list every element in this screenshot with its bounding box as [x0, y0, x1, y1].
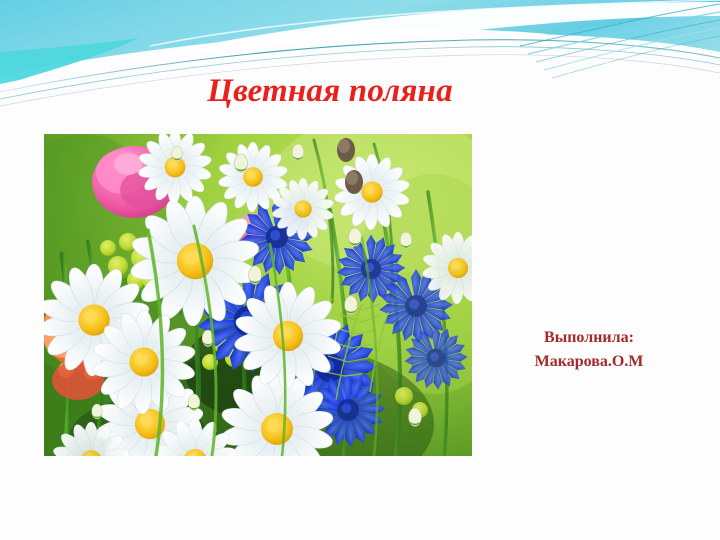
wave-graphic [0, 0, 720, 132]
hairline-white-1 [150, 0, 720, 46]
author-label: Выполнила: [486, 326, 692, 350]
author-name: Макарова.О.М [486, 350, 692, 374]
author-credit: Выполнила: Макарова.О.М [486, 326, 692, 374]
cyan-band [0, 0, 720, 76]
presentation-slide: Цветная поляна [0, 0, 720, 540]
fan-line-2 [528, 12, 720, 54]
header-wave-decoration [0, 0, 720, 132]
hairline-white-2 [190, 6, 720, 52]
fan-line-1 [520, 4, 720, 46]
cyan-wedge-right [470, 6, 720, 74]
fan-line-4 [544, 28, 720, 70]
fan-line-3 [536, 20, 720, 62]
flower-meadow-photo [44, 134, 472, 456]
flower-bouquet-illustration [44, 134, 472, 456]
page-title: Цветная поляна [0, 72, 660, 110]
